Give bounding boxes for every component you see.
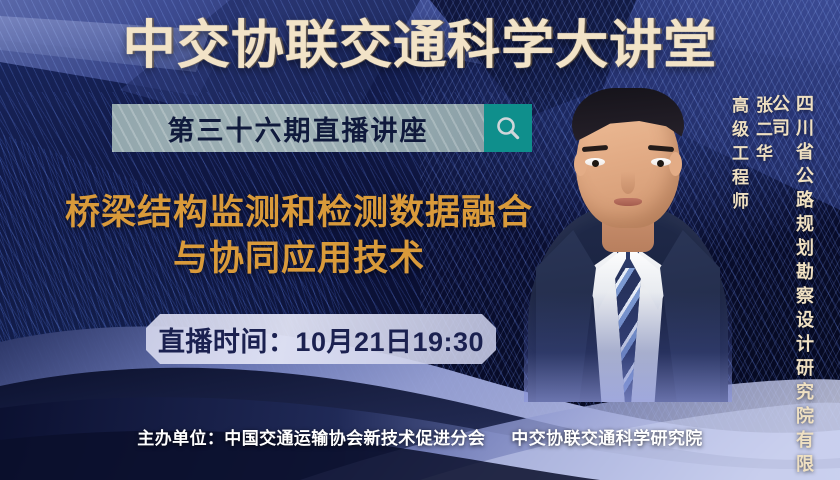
search-icon[interactable] xyxy=(484,104,532,152)
speaker-info-vertical: 张二华 高级工程师 xyxy=(726,96,774,216)
portrait-pupil-left xyxy=(592,160,599,167)
portrait-ear-left xyxy=(574,152,587,176)
speaker-title: 高级工程师 xyxy=(729,96,748,216)
broadcast-time-badge: 直播时间：10月21日19:30 xyxy=(146,314,496,364)
lecture-topic-line-1: 桥梁结构监测和检测数据融合 xyxy=(34,190,564,236)
page-title: 中交协联交通科学大讲堂 xyxy=(0,16,840,76)
portrait-nose xyxy=(621,172,635,194)
footer-organizer-2: 中交协联交通科学研究院 xyxy=(511,429,702,448)
lecture-topic-line-2: 与协同应用技术 xyxy=(34,236,564,282)
footer-prefix: 主办单位： xyxy=(137,429,224,448)
portrait-mouth xyxy=(614,198,642,206)
speaker-organization: 四川省公路规划勘察设计研究院有限公司 xyxy=(768,94,816,480)
session-bar-body: 第三十六期直播讲座 xyxy=(112,104,484,152)
lecture-topic: 桥梁结构监测和检测数据融合 与协同应用技术 xyxy=(34,190,564,282)
broadcast-time-text: 直播时间：10月21日19:30 xyxy=(158,320,484,359)
footer-organizers: 主办单位：中国交通运输协会新技术促进分会中交协联交通科学研究院 xyxy=(0,424,840,449)
portrait-ear-right xyxy=(669,152,682,176)
live-lecture-poster: 中交协联交通科学大讲堂 第三十六期直播讲座 桥梁结构监测和检测数据融合 与协同应… xyxy=(0,0,840,480)
portrait-pupil-right xyxy=(657,160,664,167)
footer-organizer-1: 中国交通运输协会新技术促进分会 xyxy=(224,429,485,448)
session-bar: 第三十六期直播讲座 xyxy=(112,104,532,152)
session-label: 第三十六期直播讲座 xyxy=(168,109,429,148)
